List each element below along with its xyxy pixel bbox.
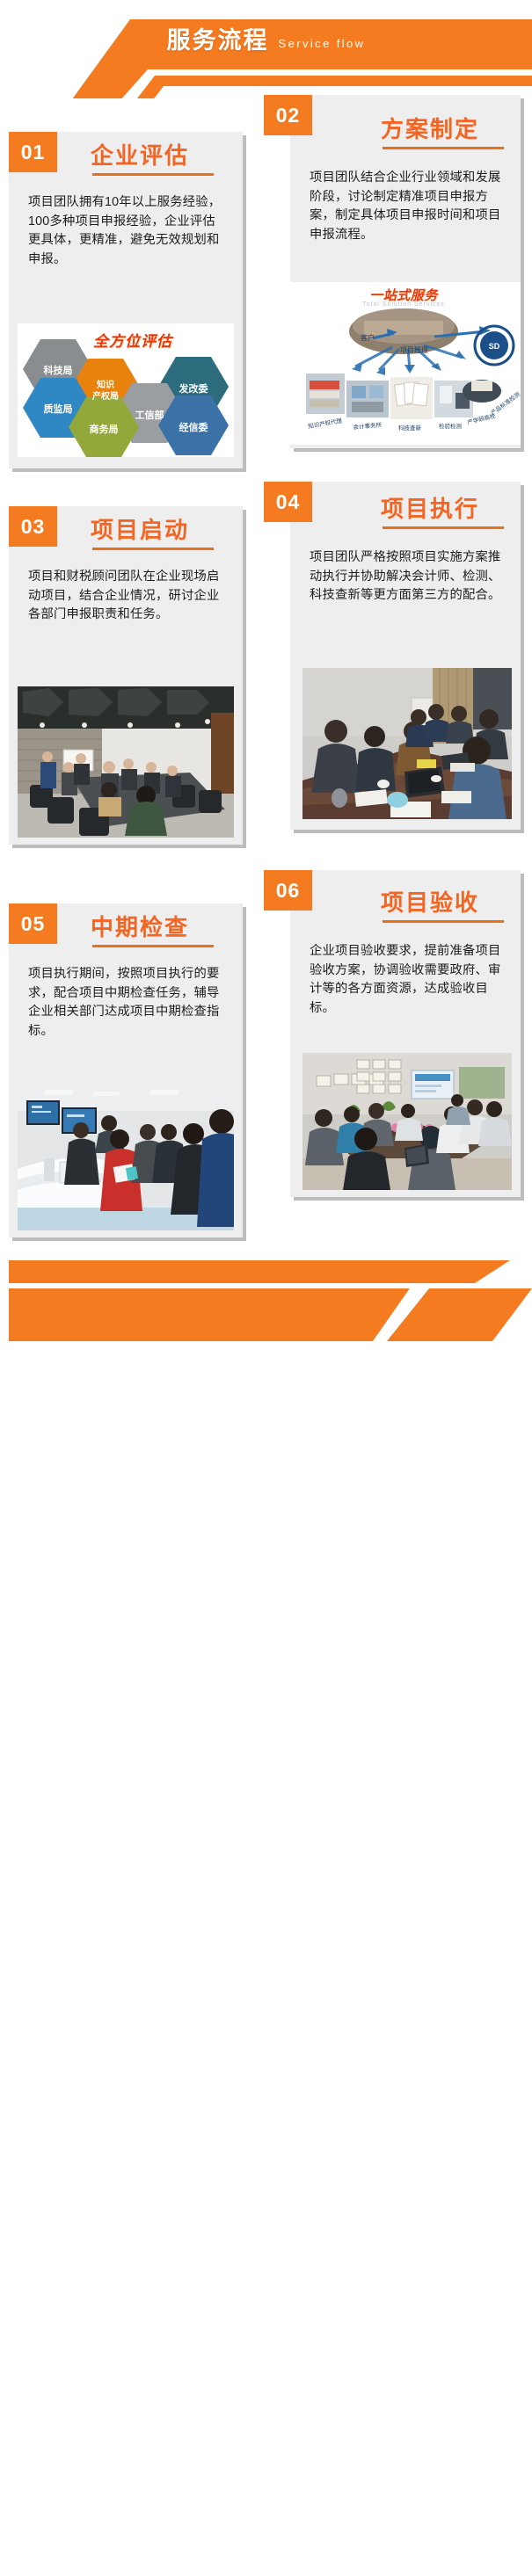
card-03-title-rule — [92, 548, 214, 550]
card-01-title-rule — [92, 173, 214, 176]
card-05-title: 中期检查 — [91, 916, 189, 939]
card-06-photo-art — [302, 1053, 512, 1190]
header-banner-shape — [0, 0, 532, 98]
card-03[interactable]: 03 项目启动 项目和财税顾问团队在企业现场启动项目，结合企业情况，研讨企业各部… — [9, 506, 251, 853]
card-02-description: 项目团队结合企业行业领域和发展阶段，讨论制定精准项目申报方案，制定具体项目申报时… — [310, 169, 510, 245]
illustration-center-label: 项目经理 — [400, 345, 428, 354]
card-03-photo-art — [18, 686, 234, 838]
illustration-bottom-label-2: 科技查新 — [398, 424, 422, 432]
card-06-title: 项目验收 — [381, 891, 479, 914]
card-04-number-badge: 04 — [264, 482, 312, 522]
card-05-number-badge: 05 — [9, 903, 57, 944]
page-header: 服务流程 Service flow — [0, 0, 532, 95]
hex-diagram-title: 全方位评估 — [93, 329, 172, 351]
hex-label-5: 商务局 — [90, 423, 119, 435]
card-05-description: 项目执行期间，按照项目执行的要求，配合项目中期检查任务，辅导企业相关部门达成项目… — [28, 965, 227, 1041]
hex-label-4: 工信部 — [135, 409, 164, 421]
card-02-illustration: 一站式服务 Total Solution Services — [287, 282, 521, 445]
footer-hotline-label: 全国统一热线： — [51, 2557, 149, 2575]
card-01-number-badge: 01 — [9, 132, 57, 172]
card-05[interactable]: 05 中期检查 项目执行期间，按照项目执行的要求，配合项目中期检查任务，辅导企业… — [9, 903, 251, 1244]
card-05-photo — [18, 1085, 234, 1230]
card-05-title-rule — [92, 945, 214, 947]
card-01[interactable]: 01 企业评估 项目团队拥有10年以上服务经验，100多种项目申报经验，企业评估… — [9, 132, 251, 476]
page-footer: 全国统一热线： 400-150-1560 — [0, 1257, 532, 1352]
hex-label-1a: 知识 — [96, 379, 114, 390]
card-03-description: 项目和财税顾问团队在企业现场启动项目，结合企业情况，研讨企业各部门申报职责和任务… — [28, 568, 227, 625]
hex-label-0: 科技局 — [44, 364, 73, 376]
card-06[interactable]: 06 项目验收 企业项目验收要求，提前准备项目验收方案，协调验收需要政府、审计等… — [264, 870, 524, 1204]
card-02-title: 方案制定 — [381, 118, 479, 141]
card-02[interactable]: 02 方案制定 项目团队结合企业行业领域和发展阶段，讨论制定精准项目申报方案，制… — [264, 95, 524, 455]
service-flow-infographic: 服务流程 Service flow 01 企业评估 项目团队拥有10年以上服务经… — [0, 0, 532, 1352]
hex-label-1b: 产权局 — [92, 390, 119, 402]
card-06-title-rule — [383, 920, 504, 923]
card-02-title-rule — [383, 147, 504, 149]
card-04-title-rule — [383, 526, 504, 529]
card-01-title: 企业评估 — [91, 144, 189, 167]
illustration-bottom-label-1: 会计事务所 — [353, 421, 383, 432]
card-06-number-badge: 06 — [264, 870, 312, 911]
card-04-photo — [302, 668, 512, 819]
card-02-number-badge: 02 — [264, 95, 312, 135]
illustration-bottom-label-0: 知识产权代理 — [308, 417, 343, 431]
hex-label-2: 发改委 — [179, 382, 209, 395]
card-04-title: 项目执行 — [381, 497, 479, 520]
card-03-title: 项目启动 — [91, 519, 189, 541]
footer-hotline-number: 400-150-1560 — [153, 2552, 284, 2576]
card-06-photo — [302, 1053, 512, 1190]
card-03-photo — [18, 686, 234, 838]
hex-label-3: 质监局 — [44, 403, 73, 415]
card-01-description: 项目团队拥有10年以上服务经验，100多种项目申报经验，企业评估更具体，更精准，… — [28, 193, 227, 270]
illustration-client-label: 客户 — [361, 333, 375, 342]
hex-label-6: 经信委 — [179, 421, 209, 433]
card-01-hex-diagram: 全方位评估 科技局 知识 — [18, 323, 234, 457]
illustration-subtitle: Total Solution Services — [287, 301, 521, 308]
card-03-number-badge: 03 — [9, 506, 57, 547]
footer-banner-shape — [0, 1257, 532, 1352]
illustration-badge-text: SD — [489, 342, 500, 351]
footer-hotline: 全国统一热线： 400-150-1560 — [51, 2552, 284, 2576]
illustration-bottom-label-3: 检验检测 — [439, 422, 463, 430]
card-04-photo-art — [302, 668, 512, 819]
card-06-description: 企业项目验收要求，提前准备项目验收方案，协调验收需要政府、审计等的各方面资源，达… — [310, 942, 510, 1019]
card-04-description: 项目团队严格按照项目实施方案推动执行并协助解决会计师、检测、科技查新等更方面第三… — [310, 548, 510, 606]
card-05-photo-art — [18, 1085, 234, 1230]
card-04[interactable]: 04 项目执行 项目团队严格按照项目实施方案推动执行并协助解决会计师、检测、科技… — [264, 482, 524, 837]
